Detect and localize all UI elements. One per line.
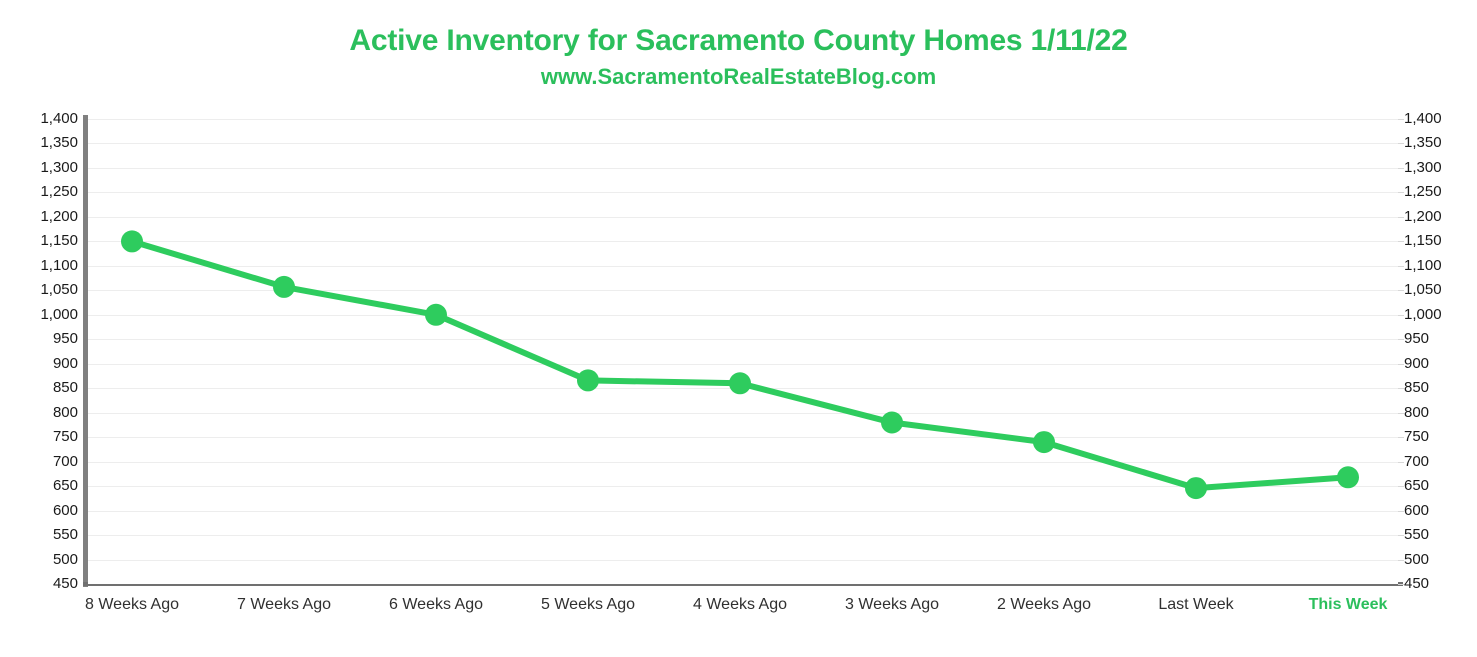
y-axis-tick-label: 1,200 <box>1404 209 1442 224</box>
y-axis-tick-label: 450 <box>1404 576 1429 591</box>
y-axis-tick-label: 450 <box>53 576 78 591</box>
x-axis-tick-label: 5 Weeks Ago <box>541 595 635 615</box>
y-axis-tick-label: 500 <box>1404 552 1429 567</box>
gridline <box>88 290 1398 291</box>
gridline <box>88 241 1398 242</box>
y-axis-tick-label: 500 <box>53 552 78 567</box>
y-axis-tick-label: 700 <box>53 454 78 469</box>
y-axis-tick-label: 1,000 <box>1404 307 1442 322</box>
y-axis-tick-label: 950 <box>53 331 78 346</box>
y-axis-tick-label: 750 <box>1404 429 1429 444</box>
gridline <box>88 315 1398 316</box>
y-axis-tick-label: 750 <box>53 429 78 444</box>
y-axis-tick-label: 1,100 <box>40 258 78 273</box>
x-axis-tick-label: This Week <box>1309 595 1388 615</box>
gridline <box>88 339 1398 340</box>
y-axis-tick-label: 600 <box>1404 503 1429 518</box>
gridline <box>88 143 1398 144</box>
x-axis-tick-label: 3 Weeks Ago <box>845 595 939 615</box>
chart-subtitle: www.SacramentoRealEstateBlog.com <box>0 62 1477 92</box>
gridline <box>88 535 1398 536</box>
y-axis-tick-label: 1,150 <box>1404 233 1442 248</box>
y-axis-tick-label: 1,350 <box>40 135 78 150</box>
gridline <box>88 266 1398 267</box>
gridline <box>88 192 1398 193</box>
y-axis-tick-label: 850 <box>1404 380 1429 395</box>
x-axis-tick-label: 4 Weeks Ago <box>693 595 787 615</box>
plot-background <box>88 119 1398 584</box>
y-axis-tick-label: 800 <box>1404 405 1429 420</box>
y-axis-tick-label: 650 <box>1404 478 1429 493</box>
y-axis-tick-label: 700 <box>1404 454 1429 469</box>
page-title: Active Inventory for Sacramento County H… <box>0 22 1477 60</box>
gridline <box>88 462 1398 463</box>
y-axis-tick-label: 1,300 <box>1404 160 1442 175</box>
y-axis-tick-label: 800 <box>53 405 78 420</box>
y-axis-tick-label: 950 <box>1404 331 1429 346</box>
y-axis-tick-label: 850 <box>53 380 78 395</box>
gridline <box>88 413 1398 414</box>
gridline <box>88 217 1398 218</box>
plot-area <box>88 119 1398 584</box>
gridline <box>88 168 1398 169</box>
x-axis-tick-label: 8 Weeks Ago <box>85 595 179 615</box>
gridline <box>88 388 1398 389</box>
y-axis-tick-label: 550 <box>53 527 78 542</box>
y-axis-tick-label: 650 <box>53 478 78 493</box>
x-axis-tick-label: Last Week <box>1158 595 1233 615</box>
y-axis-tick-label: 550 <box>1404 527 1429 542</box>
y-axis-tick-label: 1,350 <box>1404 135 1442 150</box>
y-axis-tick-label: 1,150 <box>40 233 78 248</box>
y-axis-tick-label: 1,200 <box>40 209 78 224</box>
chart-container: Active Inventory for Sacramento County H… <box>0 0 1477 657</box>
y-axis-tick-label: 1,400 <box>40 111 78 126</box>
y-axis-tick-label: 1,050 <box>1404 282 1442 297</box>
y-axis-tick-label: 600 <box>53 503 78 518</box>
title-block: Active Inventory for Sacramento County H… <box>0 22 1477 92</box>
y-axis-tick-label: 1,050 <box>40 282 78 297</box>
y-axis-tick-label: 1,000 <box>40 307 78 322</box>
gridline <box>88 364 1398 365</box>
y-axis-tick-label: 1,250 <box>1404 184 1442 199</box>
gridline <box>88 560 1398 561</box>
y-axis-tick-label: 1,400 <box>1404 111 1442 126</box>
x-axis-tick-label: 2 Weeks Ago <box>997 595 1091 615</box>
y-axis-tick-label: 900 <box>53 356 78 371</box>
y-axis-tick-label: 1,100 <box>1404 258 1442 273</box>
gridline <box>88 511 1398 512</box>
x-axis-tick-label: 6 Weeks Ago <box>389 595 483 615</box>
x-axis-tick-label: 7 Weeks Ago <box>237 595 331 615</box>
gridline <box>88 119 1398 120</box>
y-axis-tick-label: 900 <box>1404 356 1429 371</box>
y-axis-tick-label: 1,300 <box>40 160 78 175</box>
y-axis-tick-label: 1,250 <box>40 184 78 199</box>
gridline <box>88 486 1398 487</box>
gridline <box>88 437 1398 438</box>
